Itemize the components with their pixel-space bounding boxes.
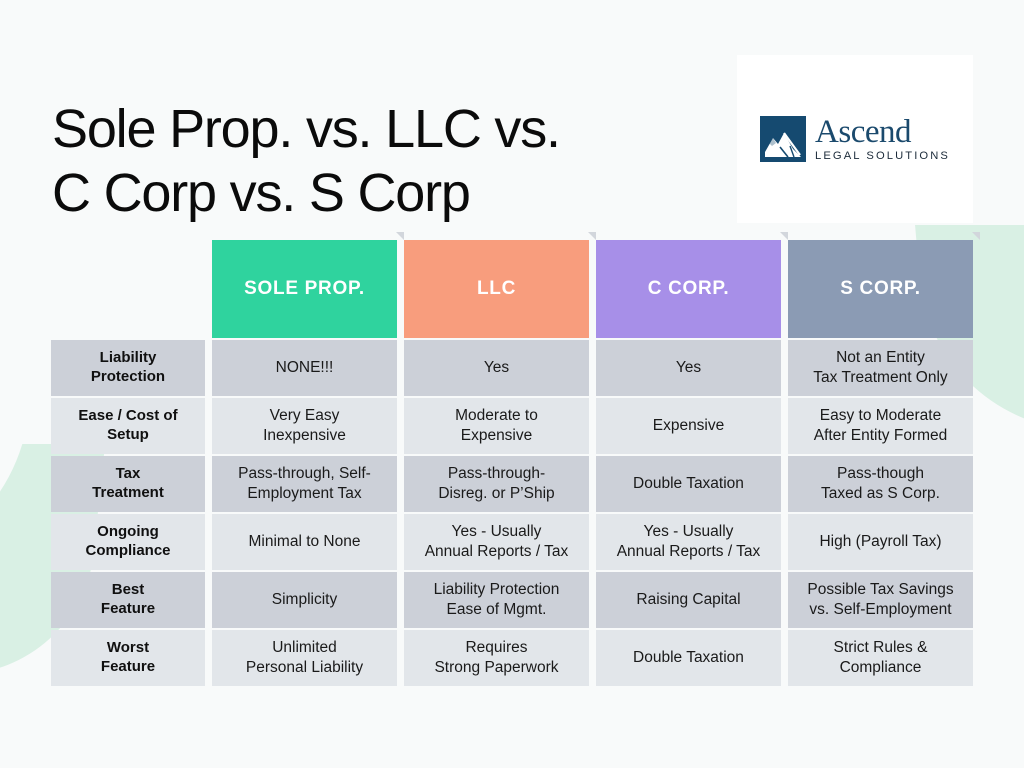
mountain-icon [760, 116, 806, 162]
row-label-2: TaxTreatment [51, 456, 205, 512]
page-title-line-1: Sole Prop. vs. LLC vs. [52, 99, 560, 159]
cell-r0-c2: Yes [596, 340, 781, 396]
logo: Ascend LEGAL SOLUTIONS [760, 116, 950, 162]
logo-tagline: LEGAL SOLUTIONS [815, 150, 950, 162]
cell-r1-c1: Moderate toExpensive [404, 398, 589, 454]
cell-r4-c3: Possible Tax Savingsvs. Self-Employment [788, 572, 973, 628]
cell-r1-c0: Very EasyInexpensive [212, 398, 397, 454]
cell-r3-c1: Yes - UsuallyAnnual Reports / Tax [404, 514, 589, 570]
decorative-shape-left-cutout [0, 392, 30, 572]
comparison-table: SOLE PROP.LLCC CORP.S CORP.LiabilityProt… [51, 232, 973, 686]
comparison-grid: SOLE PROP.LLCC CORP.S CORP.LiabilityProt… [51, 232, 973, 686]
cell-r4-c2: Raising Capital [596, 572, 781, 628]
ribbon-fold-icon [780, 232, 788, 240]
cell-r2-c3: Pass-thoughTaxed as S Corp. [788, 456, 973, 512]
cell-r5-c1: RequiresStrong Paperwork [404, 630, 589, 686]
cell-r1-c3: Easy to ModerateAfter Entity Formed [788, 398, 973, 454]
cell-r2-c2: Double Taxation [596, 456, 781, 512]
cell-r3-c3: High (Payroll Tax) [788, 514, 973, 570]
cell-r1-c2: Expensive [596, 398, 781, 454]
cell-r3-c2: Yes - UsuallyAnnual Reports / Tax [596, 514, 781, 570]
header-corner-spacer [51, 232, 205, 330]
cell-r4-c1: Liability ProtectionEase of Mgmt. [404, 572, 589, 628]
column-header-label: S CORP. [840, 278, 921, 300]
cell-r4-c0: Simplicity [212, 572, 397, 628]
column-header-label: SOLE PROP. [244, 278, 365, 300]
cell-r5-c2: Double Taxation [596, 630, 781, 686]
cell-r2-c0: Pass-through, Self-Employment Tax [212, 456, 397, 512]
cell-r0-c0: NONE!!! [212, 340, 397, 396]
logo-text: Ascend LEGAL SOLUTIONS [815, 116, 950, 162]
row-label-4: BestFeature [51, 572, 205, 628]
row-label-1: Ease / Cost ofSetup [51, 398, 205, 454]
cell-r3-c0: Minimal to None [212, 514, 397, 570]
column-header-0[interactable]: SOLE PROP. [212, 240, 397, 338]
logo-wordmark: Ascend [815, 116, 950, 148]
row-label-3: OngoingCompliance [51, 514, 205, 570]
ribbon-fold-icon [972, 232, 980, 240]
ribbon-fold-icon [396, 232, 404, 240]
page-title: Sole Prop. vs. LLC vs. C Corp vs. S Corp [52, 98, 692, 225]
row-label-5: WorstFeature [51, 630, 205, 686]
column-header-2[interactable]: C CORP. [596, 240, 781, 338]
ribbon-fold-icon [588, 232, 596, 240]
cell-r0-c3: Not an EntityTax Treatment Only [788, 340, 973, 396]
column-header-1[interactable]: LLC [404, 240, 589, 338]
cell-r5-c0: UnlimitedPersonal Liability [212, 630, 397, 686]
logo-card: Ascend LEGAL SOLUTIONS [737, 55, 973, 223]
cell-r0-c1: Yes [404, 340, 589, 396]
column-header-label: C CORP. [648, 278, 730, 300]
column-header-3[interactable]: S CORP. [788, 240, 973, 338]
page-title-line-2: C Corp vs. S Corp [52, 163, 470, 223]
cell-r2-c1: Pass-through-Disreg. or P’Ship [404, 456, 589, 512]
cell-r5-c3: Strict Rules &Compliance [788, 630, 973, 686]
row-label-0: LiabilityProtection [51, 340, 205, 396]
column-header-label: LLC [477, 278, 516, 300]
